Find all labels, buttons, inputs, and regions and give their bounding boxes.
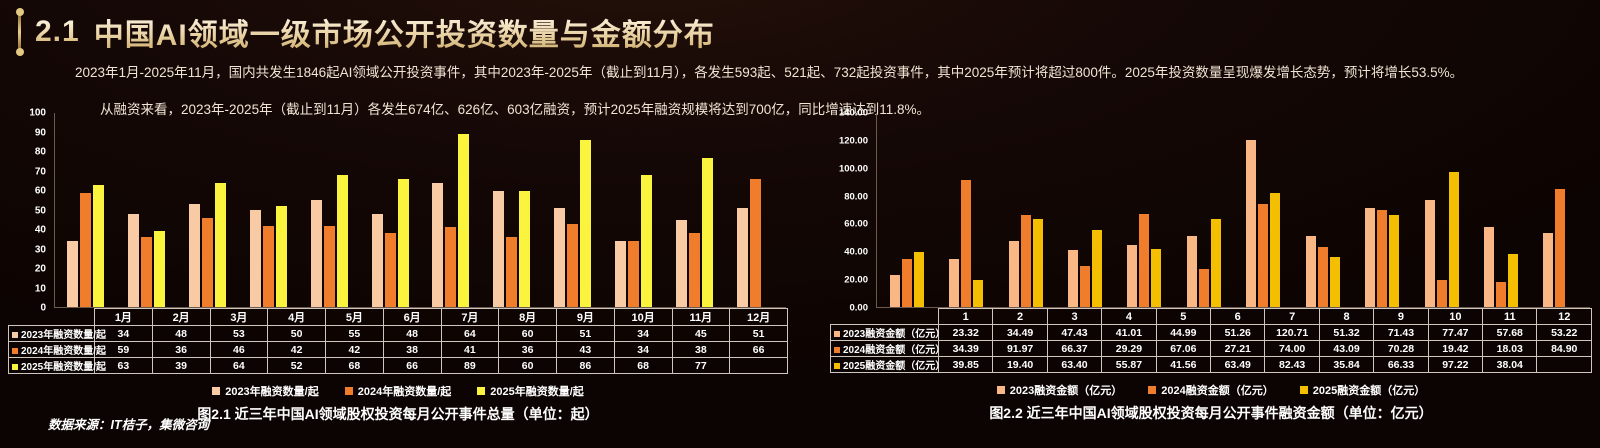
table-cell: 84.90 <box>1537 341 1592 357</box>
legend-color-swatch-icon <box>1148 386 1156 394</box>
bar-group <box>725 113 786 307</box>
bar <box>1246 140 1256 307</box>
bar <box>1009 241 1019 307</box>
y-tick-label: 80 <box>35 147 46 158</box>
table-cell: 68 <box>614 358 672 374</box>
y-tick-label: 120.00 <box>839 135 868 146</box>
table-column-header: 4 <box>1102 309 1156 325</box>
bar <box>398 179 409 307</box>
bar <box>1092 230 1102 307</box>
table-cell: 60 <box>499 358 557 374</box>
bar <box>506 237 517 307</box>
legend-color-swatch-icon <box>345 387 353 395</box>
table-cell: 63.49 <box>1211 357 1265 373</box>
table-cell: 52 <box>268 358 326 374</box>
bar <box>1258 204 1268 307</box>
table-cell: 34.49 <box>993 325 1047 341</box>
table-cell: 89 <box>441 358 499 374</box>
bar <box>250 210 261 307</box>
bar-group <box>1531 113 1590 307</box>
table-column-header: 3月 <box>210 309 268 326</box>
y-tick-label: 100.00 <box>839 163 868 174</box>
bar <box>961 180 971 307</box>
y-tick-label: 0 <box>40 303 46 314</box>
bar <box>567 224 578 307</box>
legend-color-swatch-icon <box>1300 386 1308 394</box>
table-column-header: 2月 <box>152 309 210 326</box>
bar <box>154 231 165 307</box>
table-cell: 64 <box>441 326 499 342</box>
table-cell: 48 <box>152 326 210 342</box>
bar <box>689 233 700 307</box>
bar <box>1306 236 1316 307</box>
table-cell: 120.71 <box>1265 325 1319 341</box>
bar <box>324 226 335 307</box>
bar <box>1543 233 1553 307</box>
table-cell: 23.32 <box>939 325 993 341</box>
bar <box>385 233 396 307</box>
table-cell: 19.40 <box>993 357 1047 373</box>
table-column-header: 7 <box>1265 309 1319 325</box>
bar <box>215 183 226 307</box>
bar-group <box>1055 113 1114 307</box>
chart-left-container: 0102030405060708090100 1月2月3月4月5月6月7月8月9… <box>8 113 788 424</box>
table-column-header: 6 <box>1211 309 1265 325</box>
table-cell: 77.47 <box>1428 325 1482 341</box>
table-column-header: 3 <box>1047 309 1101 325</box>
table-cell: 39.85 <box>939 357 993 373</box>
table-cell: 64 <box>210 358 268 374</box>
table-cell: 71.43 <box>1374 325 1428 341</box>
table-cell: 57.68 <box>1483 325 1537 341</box>
series-color-swatch-icon <box>12 364 18 370</box>
table-cell: 74.00 <box>1265 341 1319 357</box>
bar-group <box>116 113 177 307</box>
y-tick-label: 50 <box>35 205 46 216</box>
bar <box>458 134 469 307</box>
table-cell: 34 <box>614 342 672 358</box>
table-cell: 55 <box>326 326 384 342</box>
legend-label: 2023融资金额（亿元） <box>1010 382 1122 398</box>
table-column-header: 8 <box>1319 309 1373 325</box>
table-cell: 36 <box>499 342 557 358</box>
table-column-header: 1月 <box>95 309 153 326</box>
table-row-label: 2024融资金额（亿元） <box>831 341 939 357</box>
source-note: 数据来源：IT桔子，集微咨询 <box>48 414 209 433</box>
bar <box>493 191 504 307</box>
bar <box>1270 193 1280 307</box>
table-cell: 36 <box>152 342 210 358</box>
table-cell: 53 <box>210 326 268 342</box>
table-cell: 47.43 <box>1047 325 1101 341</box>
bar <box>1127 245 1137 307</box>
bar <box>276 206 287 307</box>
table-cell: 66.33 <box>1374 357 1428 373</box>
chart-right-plot-area: 0.0020.0040.0060.0080.00100.00120.00140.… <box>830 113 1592 308</box>
series-color-swatch-icon <box>834 331 840 337</box>
table-row-label: 2023融资金额（亿元） <box>831 325 939 341</box>
bar-group <box>664 113 725 307</box>
bar <box>1330 257 1340 307</box>
table-column-header: 8月 <box>499 309 557 326</box>
table-cell: 51 <box>730 326 788 342</box>
table-column-header: 10 <box>1428 309 1482 325</box>
chart-right-y-axis: 0.0020.0040.0060.0080.00100.00120.00140.… <box>830 113 872 308</box>
chart-right-data-table: 1234567891011122023融资金额（亿元）23.3234.4947.… <box>830 308 1592 373</box>
y-tick-label: 20 <box>35 264 46 275</box>
bar <box>1389 215 1399 307</box>
legend-label: 2025融资金额（亿元） <box>1313 382 1425 398</box>
legend-color-swatch-icon <box>477 387 485 395</box>
bar <box>554 208 565 307</box>
legend-item: 2023年融资数量/起 <box>212 383 319 399</box>
legend-item: 2025年融资数量/起 <box>477 383 584 399</box>
table-cell: 66 <box>730 342 788 358</box>
legend-color-swatch-icon <box>212 387 220 395</box>
bar-group <box>1352 113 1411 307</box>
bar <box>737 208 748 307</box>
y-tick-label: 100 <box>29 108 46 119</box>
table-cell: 53.22 <box>1537 325 1592 341</box>
y-tick-label: 60.00 <box>844 219 868 230</box>
bar <box>1437 280 1447 307</box>
table-cell: 66 <box>383 358 441 374</box>
page-title: 2.1 中国AI领域一级市场公开投资数量与金额分布 <box>18 10 715 54</box>
table-cell: 51.26 <box>1211 325 1265 341</box>
slide-root: 2.1 中国AI领域一级市场公开投资数量与金额分布 2023年1月-2025年1… <box>0 0 1600 448</box>
legend-label: 2024融资金额（亿元） <box>1161 382 1273 398</box>
bar <box>1449 172 1459 307</box>
table-column-header: 12 <box>1537 309 1592 325</box>
table-column-header: 11月 <box>672 309 730 326</box>
table-cell: 38 <box>672 342 730 358</box>
chart-left-plot <box>54 113 786 308</box>
table-cell: 41 <box>441 342 499 358</box>
chart-left-data-table: 1月2月3月4月5月6月7月8月9月10月11月12月2023年融资数量/起34… <box>8 308 788 374</box>
bar <box>311 200 322 307</box>
table-column-header: 4月 <box>268 309 326 326</box>
bar <box>1139 214 1149 307</box>
legend-color-swatch-icon <box>997 386 1005 394</box>
table-cell: 50 <box>268 326 326 342</box>
bar <box>1199 269 1209 307</box>
chart-left-bar-groups <box>55 113 786 307</box>
bar <box>1033 219 1043 307</box>
bar <box>615 241 626 307</box>
table-cell: 19.42 <box>1428 341 1482 357</box>
series-color-swatch-icon <box>12 348 18 354</box>
bar-group <box>877 113 936 307</box>
table-header-row: 123456789101112 <box>831 309 1592 325</box>
bar-group <box>1234 113 1293 307</box>
table-cell: 86 <box>557 358 615 374</box>
table-cell: 38 <box>383 342 441 358</box>
bar <box>445 227 456 307</box>
table-cell: 68 <box>326 358 384 374</box>
y-tick-label: 140.00 <box>839 108 868 119</box>
bar <box>1425 200 1435 307</box>
table-cell <box>1537 357 1592 373</box>
table-corner-cell <box>831 309 939 325</box>
y-tick-label: 30 <box>35 244 46 255</box>
table-column-header: 9月 <box>557 309 615 326</box>
table-cell: 82.43 <box>1265 357 1319 373</box>
bar-group <box>1293 113 1352 307</box>
bar <box>372 214 383 307</box>
series-color-swatch-icon <box>12 332 18 338</box>
table-cell: 51.32 <box>1319 325 1373 341</box>
table-header-row: 1月2月3月4月5月6月7月8月9月10月11月12月 <box>9 309 788 326</box>
table-cell: 27.21 <box>1211 341 1265 357</box>
bar <box>1068 250 1078 307</box>
table-cell: 66.37 <box>1047 341 1101 357</box>
bar <box>902 259 912 307</box>
bar <box>1151 249 1161 307</box>
bar-group <box>1471 113 1530 307</box>
table-row: 2023年融资数量/起344853505548646051344551 <box>9 326 788 342</box>
bar-group <box>936 113 995 307</box>
y-tick-label: 10 <box>35 283 46 294</box>
title-heading: 中国AI领域一级市场公开投资数量与金额分布 <box>94 10 715 54</box>
table-column-header: 5 <box>1156 309 1210 325</box>
table-cell: 42 <box>268 342 326 358</box>
y-tick-label: 40 <box>35 225 46 236</box>
table-cell: 70.28 <box>1374 341 1428 357</box>
table-column-header: 1 <box>939 309 993 325</box>
table-cell: 55.87 <box>1102 357 1156 373</box>
table-column-header: 5月 <box>326 309 384 326</box>
bar-group <box>177 113 238 307</box>
table-row: 2025融资金额（亿元）39.8519.4063.4055.8741.5663.… <box>831 357 1592 373</box>
bar <box>141 237 152 307</box>
y-tick-label: 70 <box>35 166 46 177</box>
bar-group <box>1115 113 1174 307</box>
bar-group <box>238 113 299 307</box>
table-row: 2024年融资数量/起593646424238413643343866 <box>9 342 788 358</box>
table-cell: 60 <box>499 326 557 342</box>
legend-item: 2024年融资数量/起 <box>345 383 452 399</box>
bar <box>432 183 443 307</box>
chart-left-plot-area: 0102030405060708090100 <box>8 113 788 308</box>
bar-group <box>542 113 603 307</box>
legend-label: 2024年融资数量/起 <box>358 383 452 399</box>
bar <box>1496 282 1506 307</box>
chart-right-bar-groups <box>877 113 1590 307</box>
table-cell: 67.06 <box>1156 341 1210 357</box>
bar <box>750 179 761 307</box>
table-row-label: 2023年融资数量/起 <box>9 326 95 342</box>
table-column-header: 12月 <box>730 309 788 326</box>
bar <box>1365 208 1375 307</box>
legend-label: 2025年融资数量/起 <box>490 383 584 399</box>
bar <box>1484 227 1494 307</box>
chart-right-table-body: 1234567891011122023融资金额（亿元）23.3234.4947.… <box>831 309 1592 373</box>
table-row: 2025年融资数量/起6339645268668960866877 <box>9 358 788 374</box>
bar-group <box>360 113 421 307</box>
bar-group <box>996 113 1055 307</box>
table-column-header: 11 <box>1483 309 1537 325</box>
bar <box>93 185 104 307</box>
table-column-header: 7月 <box>441 309 499 326</box>
chart-right-container: 0.0020.0040.0060.0080.00100.00120.00140.… <box>830 113 1592 423</box>
bar <box>1211 219 1221 307</box>
chart-right-plot <box>876 113 1590 308</box>
table-row-label: 2025年融资数量/起 <box>9 358 95 374</box>
bar <box>519 191 530 307</box>
table-cell: 41.01 <box>1102 325 1156 341</box>
title-accent-bar <box>18 13 21 51</box>
table-cell: 77 <box>672 358 730 374</box>
table-cell: 46 <box>210 342 268 358</box>
bar <box>914 252 924 307</box>
y-tick-label: 20.00 <box>844 275 868 286</box>
table-row-label: 2024年融资数量/起 <box>9 342 95 358</box>
bar-group <box>1174 113 1233 307</box>
table-cell: 51 <box>557 326 615 342</box>
series-color-swatch-icon <box>834 363 840 369</box>
legend-item: 2024融资金额（亿元） <box>1148 382 1273 398</box>
bar <box>676 220 687 307</box>
bar <box>1377 210 1387 307</box>
bar-group <box>299 113 360 307</box>
table-cell: 29.29 <box>1102 341 1156 357</box>
bar-group <box>1412 113 1471 307</box>
table-column-header: 9 <box>1374 309 1428 325</box>
bar <box>702 158 713 307</box>
y-tick-label: 0.00 <box>850 303 869 314</box>
y-tick-label: 80.00 <box>844 191 868 202</box>
bar <box>337 175 348 307</box>
y-tick-label: 90 <box>35 127 46 138</box>
series-color-swatch-icon <box>834 347 840 353</box>
table-cell: 44.99 <box>1156 325 1210 341</box>
bar <box>949 259 959 307</box>
table-cell: 45 <box>672 326 730 342</box>
table-cell: 43.09 <box>1319 341 1373 357</box>
bar <box>1021 215 1031 307</box>
bar-group <box>603 113 664 307</box>
table-cell: 42 <box>326 342 384 358</box>
chart-left-table-body: 1月2月3月4月5月6月7月8月9月10月11月12月2023年融资数量/起34… <box>9 309 788 374</box>
bar <box>80 193 91 307</box>
table-column-header: 10月 <box>614 309 672 326</box>
legend-item: 2023融资金额（亿元） <box>997 382 1122 398</box>
bar <box>1080 266 1090 307</box>
table-cell: 48 <box>383 326 441 342</box>
bar <box>202 218 213 307</box>
bar <box>1318 247 1328 307</box>
bar <box>641 175 652 307</box>
title-number: 2.1 <box>35 15 80 49</box>
legend-item: 2025融资金额（亿元） <box>1300 382 1425 398</box>
table-column-header: 2 <box>993 309 1047 325</box>
table-column-header: 6月 <box>383 309 441 326</box>
table-cell: 38.04 <box>1483 357 1537 373</box>
bar <box>628 241 639 307</box>
table-cell: 43 <box>557 342 615 358</box>
legend-label: 2023年融资数量/起 <box>225 383 319 399</box>
y-tick-label: 40.00 <box>844 247 868 258</box>
bar <box>580 140 591 307</box>
table-row: 2024融资金额（亿元）34.3991.9766.3729.2967.0627.… <box>831 341 1592 357</box>
table-cell: 63.40 <box>1047 357 1101 373</box>
chart-right-legend: 2023融资金额（亿元）2024融资金额（亿元）2025融资金额（亿元） <box>830 382 1592 398</box>
table-cell <box>730 358 788 374</box>
table-cell: 35.84 <box>1319 357 1373 373</box>
bar-group <box>481 113 542 307</box>
bar <box>189 204 200 307</box>
y-tick-label: 60 <box>35 186 46 197</box>
table-cell: 34 <box>614 326 672 342</box>
bar <box>263 226 274 307</box>
bar <box>1187 236 1197 307</box>
bar <box>1508 254 1518 307</box>
chart-left-y-axis: 0102030405060708090100 <box>8 113 50 308</box>
table-cell: 91.97 <box>993 341 1047 357</box>
bar <box>67 241 78 307</box>
intro-paragraph-1: 2023年1月-2025年11月，国内共发生1846起AI领域公开投资事件，其中… <box>60 62 1560 83</box>
chart-left-legend: 2023年融资数量/起2024年融资数量/起2025年融资数量/起 <box>8 383 788 399</box>
table-corner-cell <box>9 309 95 326</box>
table-row: 2023融资金额（亿元）23.3234.4947.4341.0144.9951.… <box>831 325 1592 341</box>
bar <box>973 280 983 307</box>
chart-right-caption: 图2.2 近三年中国AI领域股权投资每月公开事件融资金额（单位：亿元） <box>830 403 1592 423</box>
table-cell: 18.03 <box>1483 341 1537 357</box>
table-cell: 41.56 <box>1156 357 1210 373</box>
table-cell: 39 <box>152 358 210 374</box>
bar-group <box>55 113 116 307</box>
bar <box>128 214 139 307</box>
bar-group <box>421 113 482 307</box>
table-cell: 97.22 <box>1428 357 1482 373</box>
table-row-label: 2025融资金额（亿元） <box>831 357 939 373</box>
bar <box>1555 189 1565 307</box>
table-cell: 34.39 <box>939 341 993 357</box>
bar <box>890 275 900 307</box>
